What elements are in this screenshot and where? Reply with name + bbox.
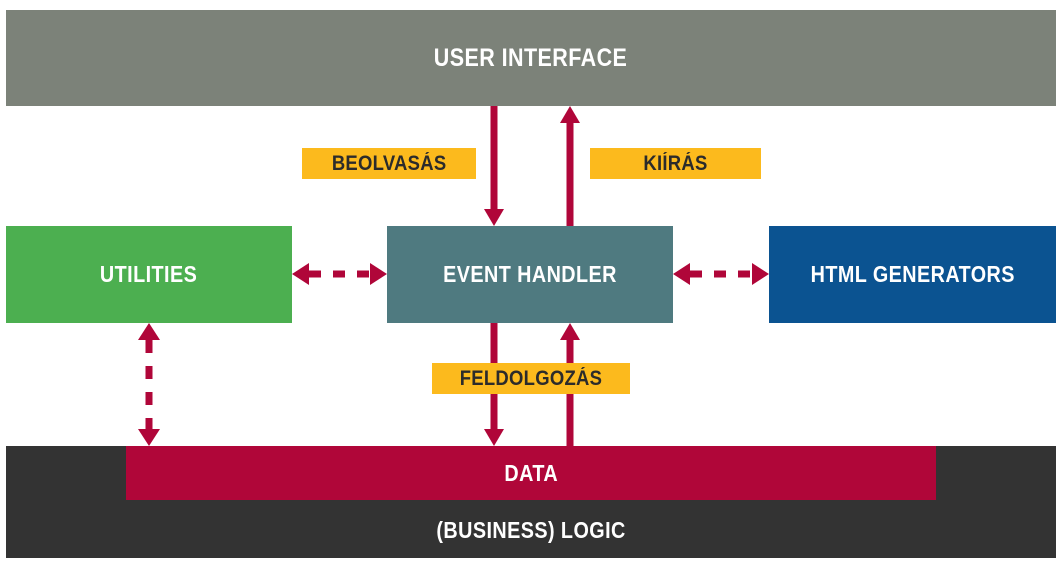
layer-data[interactable]: DATA [126,446,936,500]
layer-business-logic-label: (BUSINESS) LOGIC [436,517,625,544]
arrow-head-left-icon [673,263,690,285]
layer-data-label: DATA [504,460,558,487]
layer-event-handler[interactable]: EVENT HANDLER [387,226,673,323]
arrow-head-down-icon [484,429,504,446]
layer-html-generators[interactable]: HTML GENERATORS [769,226,1056,323]
layer-html-generators-label: HTML GENERATORS [810,261,1014,288]
tag-write-label: KIÍRÁS [643,152,707,176]
layer-utilities[interactable]: UTILITIES [6,226,292,323]
arrow-head-down-icon [484,209,504,226]
arrow-ui-to-event-handler [484,106,504,226]
layer-utilities-label: UTILITIES [100,261,197,288]
layer-user-interface[interactable]: USER INTERFACE [6,10,1056,106]
tag-write: KIÍRÁS [590,148,761,179]
arrow-head-down-icon [138,429,160,446]
arrow-utilities-to-logic [138,323,160,446]
tag-process-label: FELDOLGOZÁS [460,367,603,391]
arrow-event-handler-to-ui [560,106,580,226]
arrow-dashed-track [309,271,370,278]
layer-user-interface-label: USER INTERFACE [434,44,628,73]
arrow-head-left-icon [292,263,309,285]
arrow-head-up-icon [560,106,580,123]
arrow-dashed-track [146,340,153,429]
arrow-head-up-icon [560,323,580,340]
arrow-stem [567,122,574,226]
layer-event-handler-label: EVENT HANDLER [443,261,617,288]
arrow-dashed-track [690,271,752,278]
arrow-head-right-icon [370,263,387,285]
arrow-head-up-icon [138,323,160,340]
architecture-diagram: USER INTERFACE BEOLVASÁS KIÍRÁS UTILITIE… [0,0,1062,568]
tag-read: BEOLVASÁS [302,148,476,179]
tag-process: FELDOLGOZÁS [432,363,630,394]
arrow-head-right-icon [752,263,769,285]
arrow-utilities-to-event-handler [292,263,387,285]
tag-read-label: BEOLVASÁS [332,152,447,176]
arrow-event-handler-to-html-generators [673,263,769,285]
arrow-stem [491,106,498,210]
